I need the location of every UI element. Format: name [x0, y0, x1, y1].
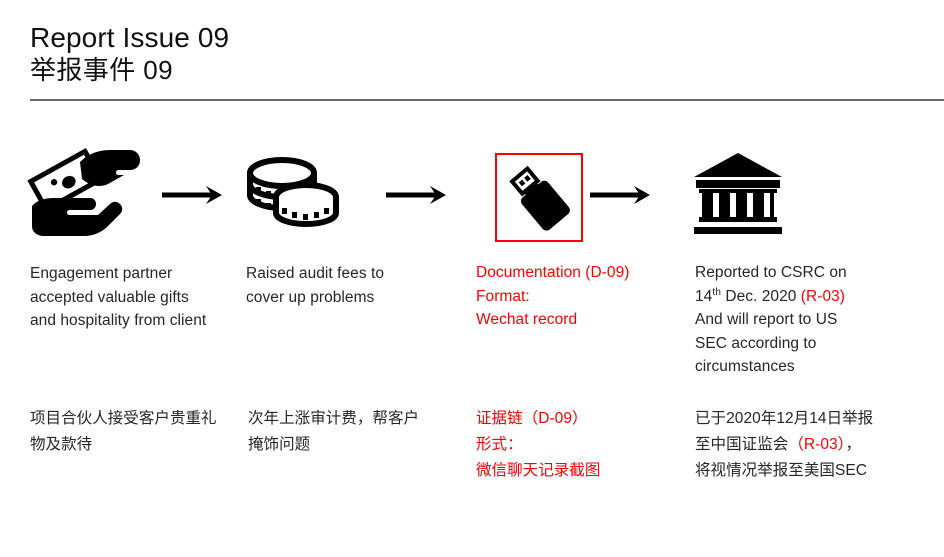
- stacked-coins-icon-slot: [244, 140, 384, 248]
- step-1-en-line-3: and hospitality from client: [30, 309, 245, 333]
- step-1-en-line-2: accepted valuable gifts: [30, 286, 245, 310]
- step-3-en-line-2: Format:: [476, 285, 691, 309]
- step-4-en-date-ordinal: th: [712, 286, 721, 297]
- step-4-en-line-4: SEC according to: [695, 332, 910, 356]
- step-2-text-en: Raised audit fees to cover up problems: [246, 262, 461, 309]
- header-divider: [30, 99, 944, 101]
- step-1-zh-line-1: 项目合伙人接受客户贵重礼: [30, 406, 240, 432]
- step-4-zh-reference-code: （R-03）: [788, 436, 845, 453]
- step-4-text-en: Reported to CSRC on 14th Dec. 2020 (R-03…: [695, 261, 910, 379]
- step-1-zh-line-2: 物及款待: [30, 432, 240, 458]
- step-1-en-line-1: Engagement partner: [30, 262, 245, 286]
- step-3-zh-line-1: 证据链（D-09）: [476, 406, 686, 432]
- step-4-zh-line-3: 将视情况举报至美国SEC: [695, 458, 905, 484]
- flow-step-2: [244, 140, 464, 252]
- step-2-en-line-1: Raised audit fees to: [246, 262, 461, 286]
- page-title-en: Report Issue 09: [30, 21, 229, 54]
- step-4-zh-line-2-suffix: ，: [845, 436, 861, 453]
- evidence-highlight-box: [495, 153, 583, 242]
- step-1-text-zh: 项目合伙人接受客户贵重礼 物及款待: [30, 406, 240, 458]
- step-4-zh-line-2: 至中国证监会（R-03），: [695, 432, 905, 458]
- arrow-right-icon-3: [590, 184, 652, 206]
- step-4-en-date-rest: Dec. 2020: [721, 288, 801, 305]
- step-4-text-zh: 已于2020年12月14日举报 至中国证监会（R-03）， 将视情况举报至美国S…: [695, 406, 905, 484]
- government-building-icon-slot: [692, 140, 832, 248]
- step-3-zh-line-2: 形式：: [476, 432, 686, 458]
- step-2-zh-line-2: 掩饰问题: [248, 432, 458, 458]
- step-3-text-en: Documentation (D-09) Format: Wechat reco…: [476, 261, 691, 332]
- hand-giving-money-icon: [24, 148, 140, 240]
- process-flow-row: [0, 140, 944, 260]
- step-4-en-line-1: Reported to CSRC on: [695, 261, 910, 285]
- slide-header: Report Issue 09 举报事件 09: [0, 0, 944, 101]
- step-3-en-line-3: Wechat record: [476, 308, 691, 332]
- step-4-en-date-day: 14: [695, 288, 712, 305]
- flow-step-1: [24, 140, 244, 252]
- step-2-en-line-2: cover up problems: [246, 286, 461, 310]
- step-4-en-reference-code: (R-03): [801, 288, 845, 305]
- step-4-zh-authority: 至中国证监会: [695, 436, 788, 453]
- step-2-text-zh: 次年上涨审计费，帮客户 掩饰问题: [248, 406, 458, 458]
- step-4-en-line-5: circumstances: [695, 355, 910, 379]
- hand-giving-money-icon-slot: [24, 140, 164, 248]
- stacked-coins-icon: [244, 151, 344, 237]
- step-3-en-line-1: Documentation (D-09): [476, 261, 691, 285]
- arrow-right-icon-1: [162, 184, 224, 206]
- step-3-zh-line-3: 微信聊天记录截图: [476, 458, 686, 484]
- page-title-zh: 举报事件 09: [30, 55, 173, 86]
- flow-step-4: [692, 140, 912, 252]
- step-4-en-line-2: 14th Dec. 2020 (R-03): [695, 285, 910, 309]
- usb-flash-drive-icon: [505, 164, 573, 232]
- step-3-text-zh: 证据链（D-09） 形式： 微信聊天记录截图: [476, 406, 686, 484]
- step-4-en-line-3: And will report to US: [695, 308, 910, 332]
- government-building-icon: [692, 151, 784, 237]
- arrow-right-icon-2: [386, 184, 448, 206]
- step-4-zh-line-1: 已于2020年12月14日举报: [695, 406, 905, 432]
- flow-step-3: [470, 140, 690, 252]
- step-2-zh-line-1: 次年上涨审计费，帮客户: [248, 406, 458, 432]
- step-1-text-en: Engagement partner accepted valuable gif…: [30, 262, 245, 333]
